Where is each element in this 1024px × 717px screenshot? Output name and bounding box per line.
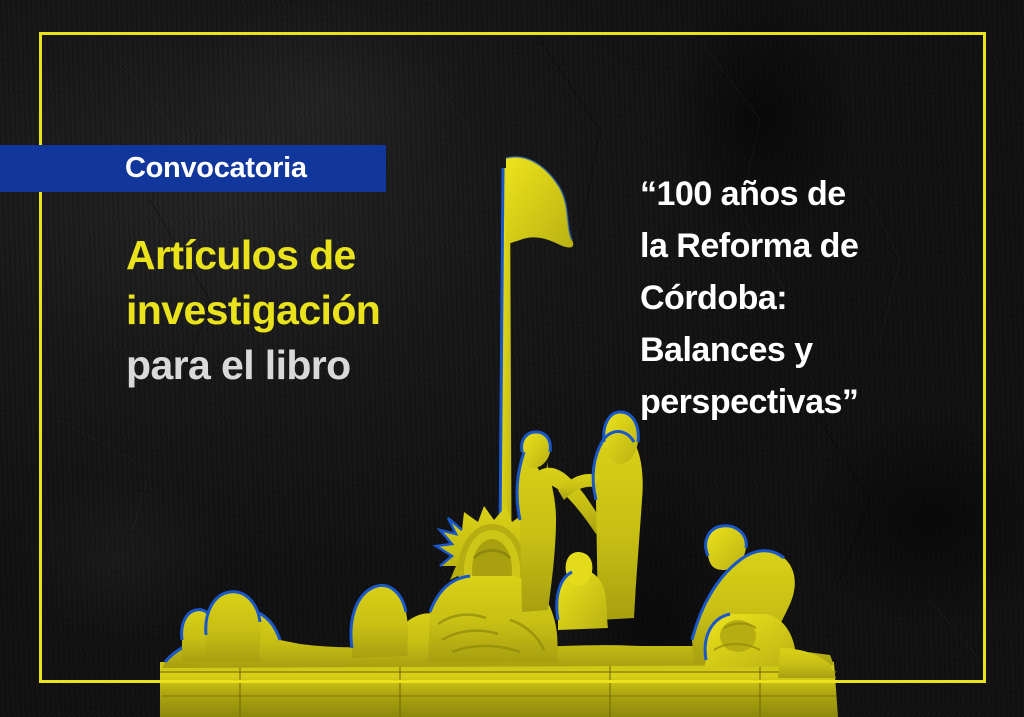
headline-line-2: investigación	[126, 283, 456, 338]
book-title-line-1: “100 años de	[640, 168, 940, 220]
headline-block: Artículos de investigación para el libro	[126, 228, 456, 393]
book-title-line-2: la Reforma de	[640, 220, 940, 272]
book-title-line-4: Balances y	[640, 324, 940, 376]
convocatoria-label: Convocatoria	[125, 152, 307, 185]
book-title-line-3: Córdoba:	[640, 272, 940, 324]
poster-canvas: Convocatoria Artículos de investigación …	[0, 0, 1024, 717]
convocatoria-banner: Convocatoria	[0, 145, 386, 192]
book-title-block: “100 años de la Reforma de Córdoba: Bala…	[640, 168, 940, 428]
book-title-line-5: perspectivas”	[640, 376, 940, 428]
headline-line-1: Artículos de	[126, 228, 456, 283]
headline-line-3: para el libro	[126, 338, 456, 393]
